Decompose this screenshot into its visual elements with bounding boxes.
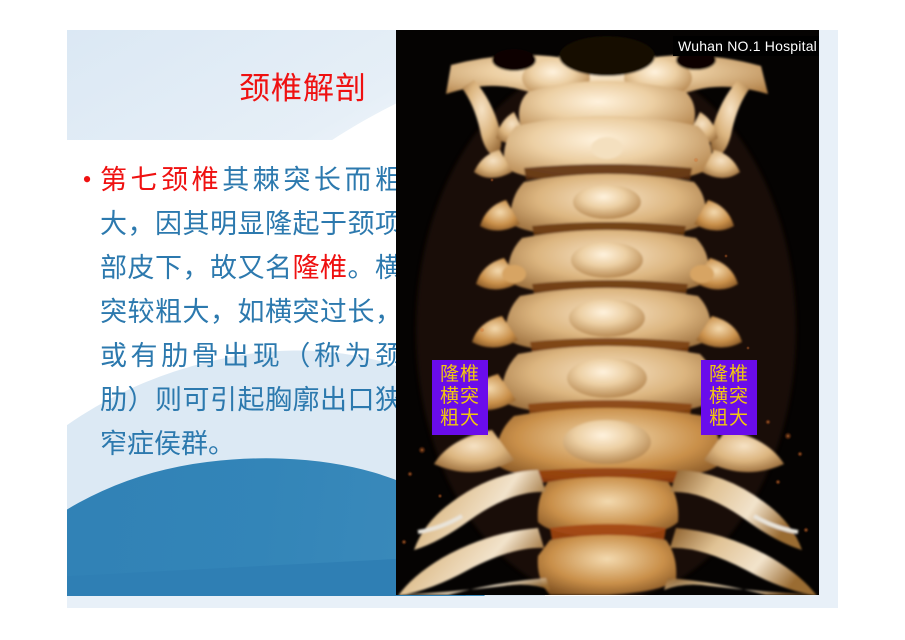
body-text-segment-3: 隆椎 [293, 253, 348, 283]
callout-right-line-3: 粗大 [707, 408, 751, 430]
body-text-segment-1: 第七颈椎 [100, 165, 222, 195]
slide-root: 颈椎解剖 • 第七颈椎其棘突长而粗大，因其明显隆起于颈项部皮下，故又名隆椎。横突… [0, 0, 905, 640]
bullet-marker: • [74, 158, 100, 202]
text-column: 颈椎解剖 • 第七颈椎其棘突长而粗大，因其明显隆起于颈项部皮下，故又名隆椎。横突… [67, 30, 402, 608]
callout-label-right: 隆椎 横突 粗大 [701, 360, 757, 435]
callout-left-line-3: 粗大 [438, 408, 482, 430]
page-title: 颈椎解剖 [67, 72, 367, 106]
body-text-segment-4: 。横突较粗大，如横突过长，或有肋骨出现（称为颈肋）则可引起胸廓出口狭窄症侯群。 [100, 253, 402, 459]
callout-label-left: 隆椎 横突 粗大 [432, 360, 488, 435]
cervical-spine-ct-image [396, 30, 819, 595]
callout-right-line-2: 横突 [707, 386, 751, 408]
callout-left-line-2: 横突 [438, 386, 482, 408]
hospital-watermark: Wuhan NO.1 Hospital [673, 36, 819, 56]
bullet-paragraph: • 第七颈椎其棘突长而粗大，因其明显隆起于颈项部皮下，故又名隆椎。横突较粗大，如… [74, 158, 402, 466]
body-text: 第七颈椎其棘突长而粗大，因其明显隆起于颈项部皮下，故又名隆椎。横突较粗大，如横突… [100, 158, 402, 466]
callout-right-line-1: 隆椎 [707, 364, 751, 386]
ct-image-panel: Wuhan NO.1 Hospital 隆椎 横突 粗大 隆椎 横突 粗大 [396, 30, 819, 595]
callout-left-line-1: 隆椎 [438, 364, 482, 386]
slide-canvas: 颈椎解剖 • 第七颈椎其棘突长而粗大，因其明显隆起于颈项部皮下，故又名隆椎。横突… [67, 30, 838, 608]
